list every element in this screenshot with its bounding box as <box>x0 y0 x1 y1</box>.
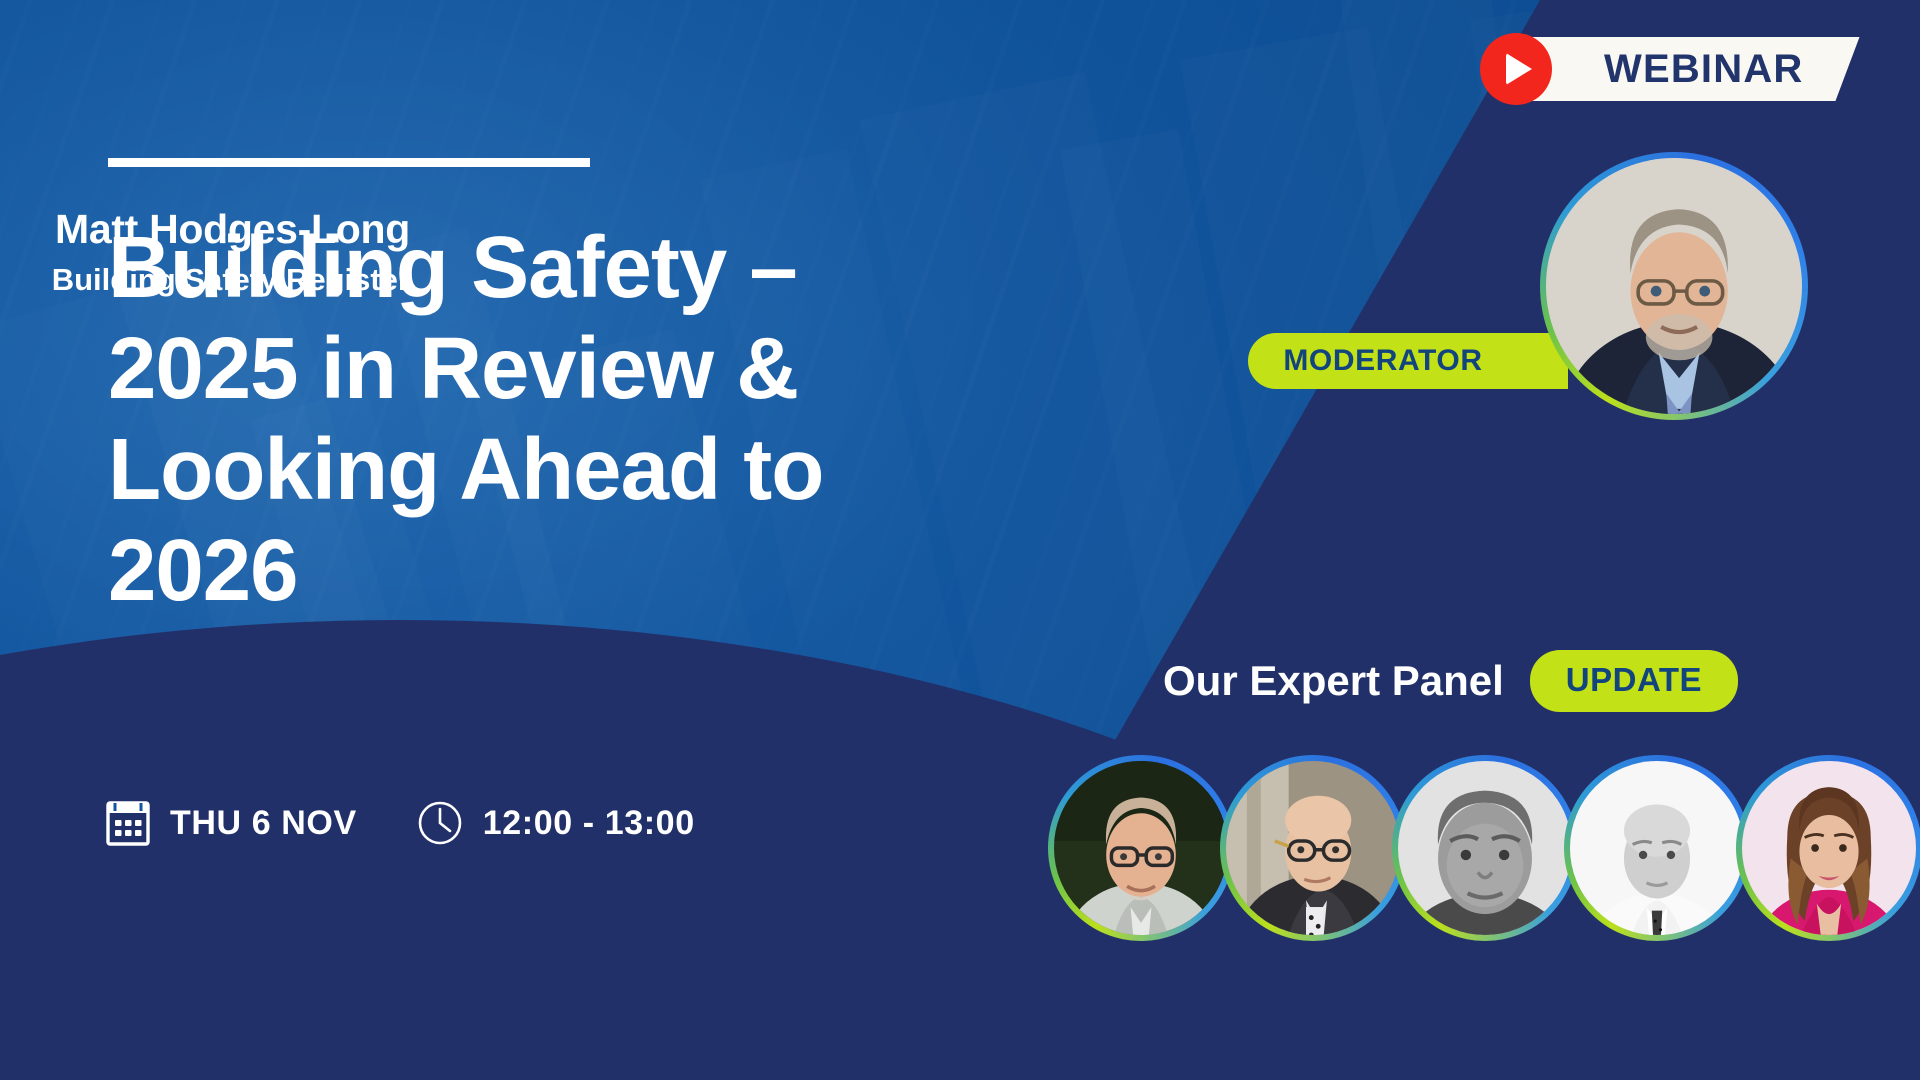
panel-member-2-avatar <box>1220 755 1406 941</box>
avatar-ring <box>1736 755 1920 941</box>
panel-member-4-avatar <box>1564 755 1750 941</box>
panel-update-badge: UPDATE <box>1530 650 1738 712</box>
webinar-badge: WEBINAR <box>1480 33 1860 105</box>
panel-member-3-avatar <box>1392 755 1578 941</box>
calendar-icon <box>106 800 150 846</box>
play-icon <box>1480 33 1552 105</box>
webinar-banner: WEBINAR <box>1516 37 1860 101</box>
moderator-avatar <box>1540 152 1808 420</box>
moderator-badge-label: MODERATOR <box>1283 344 1482 378</box>
panel-avatar-list <box>1048 755 1908 941</box>
panel-member-1-photo <box>1054 761 1228 935</box>
panel-update-label: UPDATE <box>1566 661 1702 698</box>
title-rule <box>108 158 590 167</box>
panel-header: Our Expert Panel UPDATE <box>1163 650 1738 712</box>
panel-member-5-photo <box>1742 761 1916 935</box>
event-date-label: THU 6 NOV <box>170 804 357 843</box>
avatar-ring <box>1392 755 1578 941</box>
avatar-ring <box>1048 755 1234 941</box>
moderator-photo <box>1546 158 1802 414</box>
panel-title: Our Expert Panel <box>1163 657 1504 705</box>
event-time-label: 12:00 - 13:00 <box>483 804 695 843</box>
title-line-3: Looking Ahead to <box>108 420 1008 521</box>
avatar-ring <box>1540 152 1808 420</box>
event-date: THU 6 NOV <box>106 800 357 846</box>
panel-member-4-photo <box>1570 761 1744 935</box>
moderator-name: Matt Hodges-Long <box>55 206 410 253</box>
webinar-promo-banner: WEBINAR Building Safety – 2025 in Review… <box>0 0 1920 1080</box>
panel-member-2-photo <box>1226 761 1400 935</box>
moderator-organisation: Building Safety Register <box>52 262 410 298</box>
panel-member-3-photo <box>1398 761 1572 935</box>
event-time: 12:00 - 13:00 <box>417 800 695 846</box>
clock-icon <box>417 800 463 846</box>
avatar-ring <box>1220 755 1406 941</box>
avatar-ring <box>1564 755 1750 941</box>
title-line-2: 2025 in Review & <box>108 319 1008 420</box>
play-triangle-icon <box>1506 53 1532 85</box>
panel-member-5-avatar <box>1736 755 1920 941</box>
webinar-label: WEBINAR <box>1604 49 1804 89</box>
panel-member-1-avatar <box>1048 755 1234 941</box>
moderator-badge: MODERATOR <box>1248 333 1568 389</box>
event-meta: THU 6 NOV 12:00 - 13:00 <box>106 800 695 846</box>
title-line-4: 2026 <box>108 521 1008 622</box>
